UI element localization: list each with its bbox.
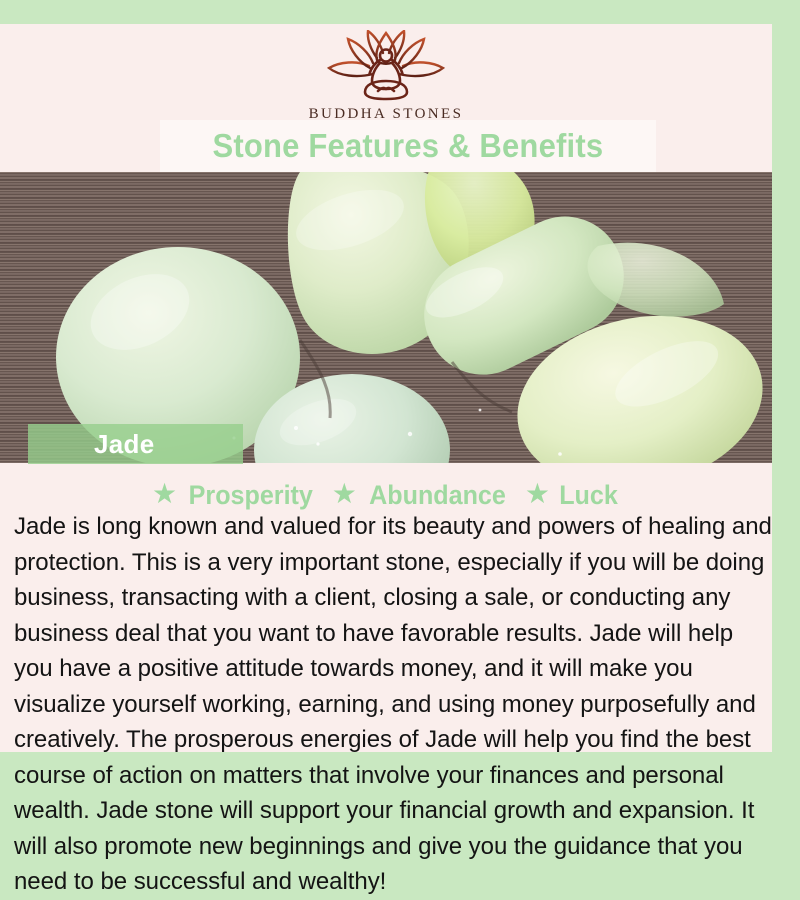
stone-name-badge: Jade <box>28 424 243 464</box>
benefit-label: Abundance <box>369 480 506 511</box>
star-icon: ★ <box>152 480 177 508</box>
star-icon: ★ <box>525 480 550 508</box>
title-banner: Stone Features & Benefits <box>160 120 656 172</box>
stone-name-label: Jade <box>94 429 154 460</box>
benefit-label: Luck <box>559 480 618 511</box>
star-icon: ★ <box>332 480 357 508</box>
benefits-row: ★ Prosperity ★ Abundance ★ Luck <box>0 477 772 513</box>
stone-photo <box>0 172 772 463</box>
benefit-item: ★ Prosperity <box>152 480 318 511</box>
stone-description: Jade is long known and valued for its be… <box>14 509 777 900</box>
benefit-label: Prosperity <box>189 480 313 511</box>
benefit-item: ★ Luck <box>525 480 620 511</box>
lotus-meditation-icon <box>315 30 457 102</box>
benefit-item: ★ Abundance <box>332 480 511 511</box>
page-title: Stone Features & Benefits <box>213 127 604 165</box>
